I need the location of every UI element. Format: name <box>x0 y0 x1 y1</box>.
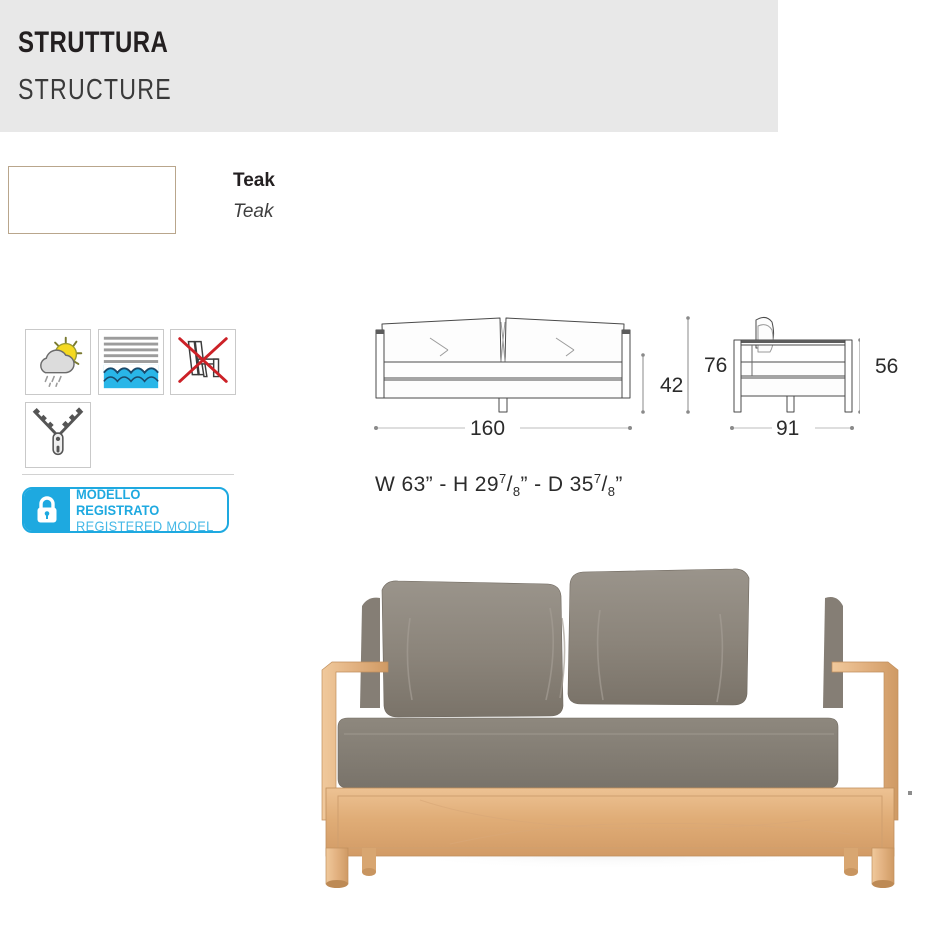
dimension-160-label: 160 <box>470 417 505 440</box>
badge-line-italian: MODELLO REGISTRATO <box>76 487 215 518</box>
section-header-band: STRUTTURA STRUCTURE <box>0 0 778 132</box>
dimension-56 <box>858 338 860 414</box>
teak-wood-swatch <box>8 166 176 234</box>
imperial-inch-1: ” <box>426 473 433 496</box>
registered-model-text: MODELLO REGISTRATO REGISTERED MODEL <box>70 489 227 531</box>
technical-drawings: 42 76 160 <box>360 300 860 450</box>
zipper-icon <box>25 402 91 468</box>
dimension-76-label: 76 <box>704 354 727 377</box>
registered-model-badge: MODELLO REGISTRATO REGISTERED MODEL <box>22 487 229 533</box>
section-title-italian: STRUTTURA <box>18 26 168 60</box>
imperial-sep-1: - <box>439 473 446 496</box>
dimension-56-label: 56 <box>875 355 898 379</box>
dimension-76 <box>686 316 690 414</box>
stray-mark <box>908 791 912 795</box>
sofa-product-photo <box>300 548 920 888</box>
imperial-height-value: 29 <box>475 473 499 496</box>
badge-line-english: REGISTERED MODEL <box>76 518 215 533</box>
dimension-42-label: 42 <box>660 374 683 397</box>
water-waves-icon <box>98 329 164 395</box>
material-name-italian: Teak <box>233 170 275 192</box>
imperial-dimensions: W 63” - H 297/8” - D 357/8” <box>375 471 623 499</box>
pictogram-divider <box>22 474 234 475</box>
dimension-42 <box>641 353 645 414</box>
imperial-width-label: W <box>375 473 395 496</box>
dimension-91-label: 91 <box>776 417 799 440</box>
imperial-height-frac-num: 7 <box>499 471 507 486</box>
imperial-sep-2: - <box>534 473 541 496</box>
imperial-depth-label: D <box>548 473 564 496</box>
imperial-depth-value: 35 <box>570 473 594 496</box>
material-name-english: Teak <box>233 201 274 223</box>
weather-sun-cloud-rain-icon <box>25 329 91 395</box>
imperial-height-frac-den: 8 <box>513 484 521 499</box>
front-elevation-drawing <box>376 318 630 412</box>
no-stacking-chair-icon <box>170 329 236 395</box>
imperial-height-label: H <box>453 473 469 496</box>
imperial-inch-2: ” <box>521 473 528 496</box>
padlock-icon <box>24 489 70 531</box>
side-elevation-drawing <box>734 317 852 412</box>
imperial-inch-3: ” <box>615 473 622 496</box>
section-title-english: STRUCTURE <box>18 74 172 107</box>
imperial-width-value: 63 <box>401 473 425 496</box>
